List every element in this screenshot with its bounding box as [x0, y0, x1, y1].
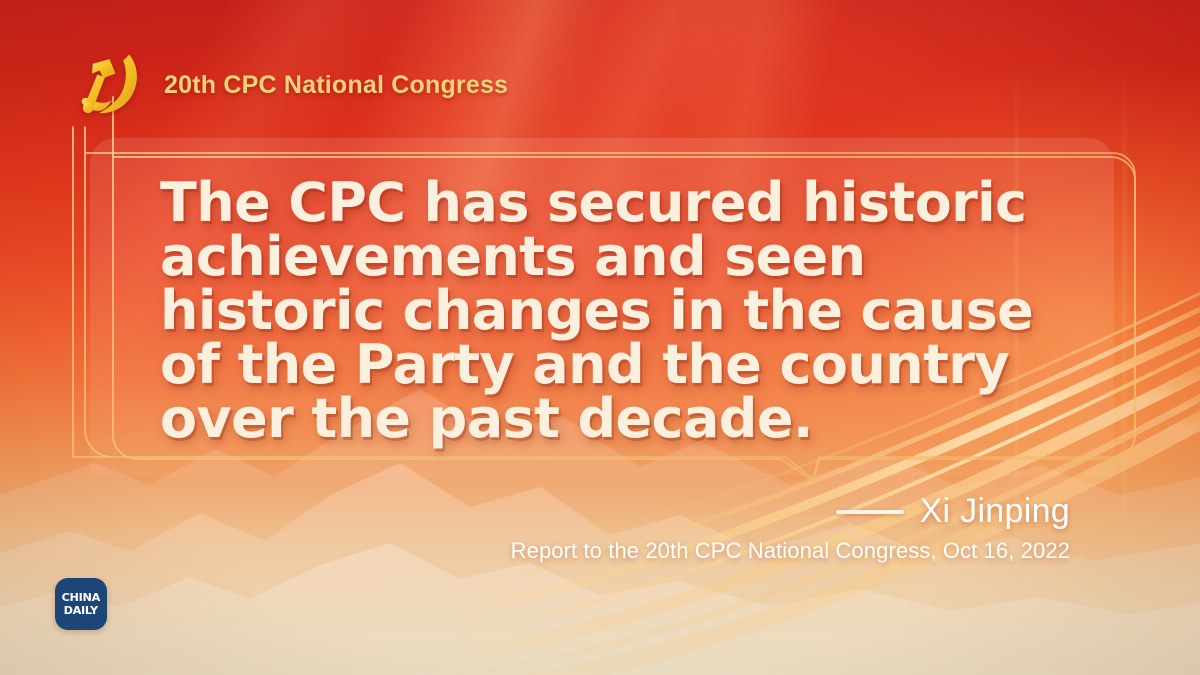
header-title: 20th CPC National Congress: [164, 71, 508, 100]
logo-line-1: CHINA: [62, 592, 100, 604]
china-daily-logo: CHINA DAILY: [55, 578, 107, 630]
attribution-source: Report to the 20th CPC National Congress…: [511, 538, 1070, 564]
congress-header: 20th CPC National Congress: [72, 50, 508, 120]
quote-text: The CPC has secured historic achievement…: [160, 176, 1060, 446]
quote-line-1: The CPC has secured historic: [160, 176, 1060, 230]
logo-line-2: DAILY: [64, 605, 98, 617]
quote-line-3: historic changes in the cause: [160, 284, 1060, 338]
hammer-and-sickle-icon: [72, 50, 150, 120]
attribution: Xi Jinping: [836, 492, 1070, 531]
poster-canvas: 20th CPC National Congress The CPC has s…: [0, 0, 1200, 675]
quote-line-5: over the past decade.: [160, 392, 1060, 446]
attribution-speaker: Xi Jinping: [920, 492, 1070, 531]
quote-line-4: of the Party and the country: [160, 338, 1060, 392]
quote-line-2: achievements and seen: [160, 230, 1060, 284]
attribution-dash: [836, 510, 904, 514]
